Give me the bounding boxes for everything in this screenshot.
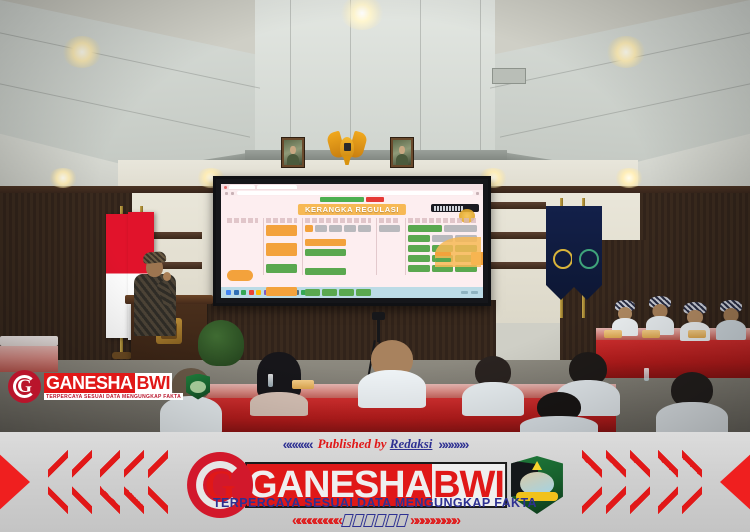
- pennant-emblem: [579, 249, 599, 269]
- taskbar-tray[interactable]: [461, 291, 478, 294]
- tray-item[interactable]: [461, 291, 468, 294]
- slide-column: [302, 218, 372, 275]
- screen-content: KERANGKA REGULASI: [221, 184, 483, 298]
- side-table-skirt: [0, 346, 58, 372]
- slide-title: KERANGKA REGULASI: [298, 204, 406, 215]
- side-table: [0, 336, 58, 346]
- column-header: [227, 218, 258, 223]
- audience-member: [358, 340, 426, 406]
- shoulders: [250, 392, 308, 416]
- shoulders: [462, 382, 524, 416]
- taskbar-icon[interactable]: [249, 290, 254, 295]
- slide-canvas: KERANGKA REGULASI: [221, 196, 483, 287]
- ceremonial-pennant-left: [546, 206, 576, 300]
- water-bottle: [268, 374, 273, 387]
- audience-member: [520, 392, 598, 432]
- column-header: [266, 218, 297, 223]
- flow-box: [266, 225, 297, 236]
- chevron-outline: [48, 442, 68, 522]
- forward-icon[interactable]: [231, 192, 234, 195]
- portrait-body: [287, 154, 299, 165]
- audience-member: [646, 296, 674, 334]
- slide-column: [405, 218, 479, 275]
- arrows-right: »»»»»»»»»: [410, 512, 458, 529]
- emblem-star-icon: [532, 461, 542, 470]
- wall-slat: [486, 202, 546, 209]
- potted-plant: [198, 320, 244, 366]
- publisher-banner: ««««« Published by Redaksi »»»»» G GANES…: [0, 432, 750, 532]
- video-camera: [372, 312, 385, 320]
- watermark-word-bwi: BWI: [135, 373, 173, 393]
- portrait-image: [393, 140, 411, 165]
- audience-member: [716, 300, 746, 338]
- downlight: [614, 168, 644, 188]
- published-by-row: ««««« Published by Redaksi »»»»»: [283, 436, 468, 452]
- flag-stand-base: [112, 352, 132, 359]
- slide-column: [263, 218, 299, 275]
- shoulders: [656, 402, 728, 432]
- column-header: [305, 218, 370, 223]
- projection-screen: KERANGKA REGULASI: [213, 176, 491, 306]
- garuda-pancasila-emblem: [329, 132, 365, 166]
- garuda-tail: [343, 156, 351, 165]
- arrow-row: ««««««««« »»»»»»»»»: [292, 512, 458, 529]
- flow-row: [305, 225, 370, 232]
- portrait-frame-left: [281, 137, 305, 168]
- portrait-body: [396, 154, 408, 165]
- taskbar-icon[interactable]: [241, 290, 246, 295]
- chevron-outline: [72, 442, 92, 522]
- flow-box: [266, 287, 297, 296]
- flow-box: [305, 249, 346, 256]
- logo-letter: G: [17, 377, 32, 396]
- watermark-text: GANESHA BWI TERPERCAYA SESUAI DATA MENGU…: [44, 373, 183, 400]
- audience-member: [656, 372, 728, 432]
- slide-columns: [225, 218, 479, 275]
- snack-plate: [292, 380, 314, 389]
- back-icon[interactable]: [225, 192, 228, 195]
- tray-clock[interactable]: [471, 291, 478, 294]
- watermark-word-ganesha: GANESHA: [44, 373, 135, 393]
- window-close-icon[interactable]: [224, 186, 227, 189]
- taskbar-icon[interactable]: [256, 290, 261, 295]
- redaksi-text: Redaksi: [390, 436, 433, 451]
- event-photo: KERANGKA REGULASI: [0, 0, 750, 432]
- chevron-outline: [630, 442, 650, 522]
- snack-plate: [688, 330, 706, 338]
- bar-blocks: [343, 514, 407, 527]
- tagline-row: TERPERCAYA SESUAI DATA MENGUNGKAP FAKTA: [213, 496, 537, 510]
- chevron-left-text: «««««: [283, 436, 312, 452]
- chevron-solid: [0, 440, 30, 524]
- portrait-image: [284, 140, 302, 165]
- wall-slat: [486, 262, 546, 269]
- chevron-outline: [582, 442, 602, 522]
- ceremonial-pennant-right: [572, 206, 602, 300]
- flow-box: [305, 268, 346, 275]
- screenshot-root: KERANGKA REGULASI: [0, 0, 750, 532]
- slide-column: [225, 218, 260, 275]
- chevron-group-right: [575, 432, 750, 532]
- shoulders: [358, 370, 426, 408]
- chevron-outline: [658, 442, 678, 522]
- wall-slat: [486, 232, 546, 239]
- flow-box: [266, 264, 297, 273]
- watermark-tagline: TERPERCAYA SESUAI DATA MENGUNGKAP FAKTA: [44, 393, 183, 400]
- watermark-title: GANESHA BWI: [44, 373, 183, 393]
- chevron-solid: [720, 440, 750, 524]
- column-header: [379, 218, 401, 223]
- portrait-head: [290, 146, 295, 155]
- snack-plate: [642, 330, 660, 338]
- status-badge-red: [366, 197, 384, 202]
- shoulders: [716, 320, 746, 340]
- audience-member: [612, 300, 638, 334]
- chevron-outline: [124, 442, 144, 522]
- url-input[interactable]: [237, 191, 473, 195]
- menu-icon[interactable]: [476, 192, 479, 195]
- ceiling-seam: [290, 0, 291, 160]
- banyuwangi-emblem-small: [186, 374, 210, 400]
- portrait-head: [399, 146, 404, 155]
- browser-tab[interactable]: [229, 185, 255, 189]
- snack-plate: [604, 330, 622, 338]
- slide-legend: [435, 252, 451, 263]
- chevron-outline: [682, 442, 702, 522]
- downlight: [48, 168, 78, 188]
- slide-badges: [320, 197, 384, 202]
- ceiling-light: [606, 36, 646, 68]
- slide-column: [376, 218, 403, 275]
- speaker-hand: [163, 272, 171, 281]
- chevron-right-text: »»»»»: [438, 436, 467, 452]
- published-by-text: Published by: [318, 436, 390, 451]
- flow-row: [408, 225, 477, 232]
- chevron-group-left: [0, 432, 175, 532]
- ceiling-seam: [420, 0, 421, 160]
- flow-pill: [227, 270, 253, 281]
- published-by-label: Published by Redaksi: [318, 436, 433, 452]
- chevron-outline: [100, 442, 120, 522]
- taskbar-icon[interactable]: [234, 290, 239, 295]
- water-bottle: [644, 368, 649, 381]
- flow-row: [305, 289, 370, 296]
- status-badge-green: [320, 197, 364, 202]
- garuda-shield: [344, 143, 351, 151]
- portrait-frame-right: [390, 137, 414, 168]
- ganesha-g-logo-small: G: [8, 370, 41, 403]
- flow-box: [266, 243, 297, 256]
- speaker-udeng-cap: [143, 251, 167, 264]
- flow-box: [379, 225, 401, 232]
- audience-member: [462, 356, 524, 414]
- shoulders: [520, 416, 598, 432]
- watermark-logo: G GANESHA BWI TERPERCAYA SESUAI DATA MEN…: [8, 370, 210, 403]
- column-header: [408, 218, 477, 223]
- ceiling-seam: [480, 0, 481, 160]
- banner-center: ««««« Published by Redaksi »»»»» G GANES…: [165, 432, 585, 532]
- browser-tab[interactable]: [257, 185, 297, 189]
- chevron-outline: [606, 442, 626, 522]
- taskbar-start-icon[interactable]: [226, 290, 231, 295]
- arrows-left: «««««««««: [292, 512, 340, 529]
- flow-box: [305, 239, 346, 246]
- ceiling-vent: [492, 68, 526, 84]
- ceiling-light: [62, 36, 102, 68]
- tripod-column: [377, 320, 380, 342]
- pennant-emblem: [553, 249, 573, 269]
- banner-tagline: TERPERCAYA SESUAI DATA MENGUNGKAP FAKTA: [213, 496, 537, 510]
